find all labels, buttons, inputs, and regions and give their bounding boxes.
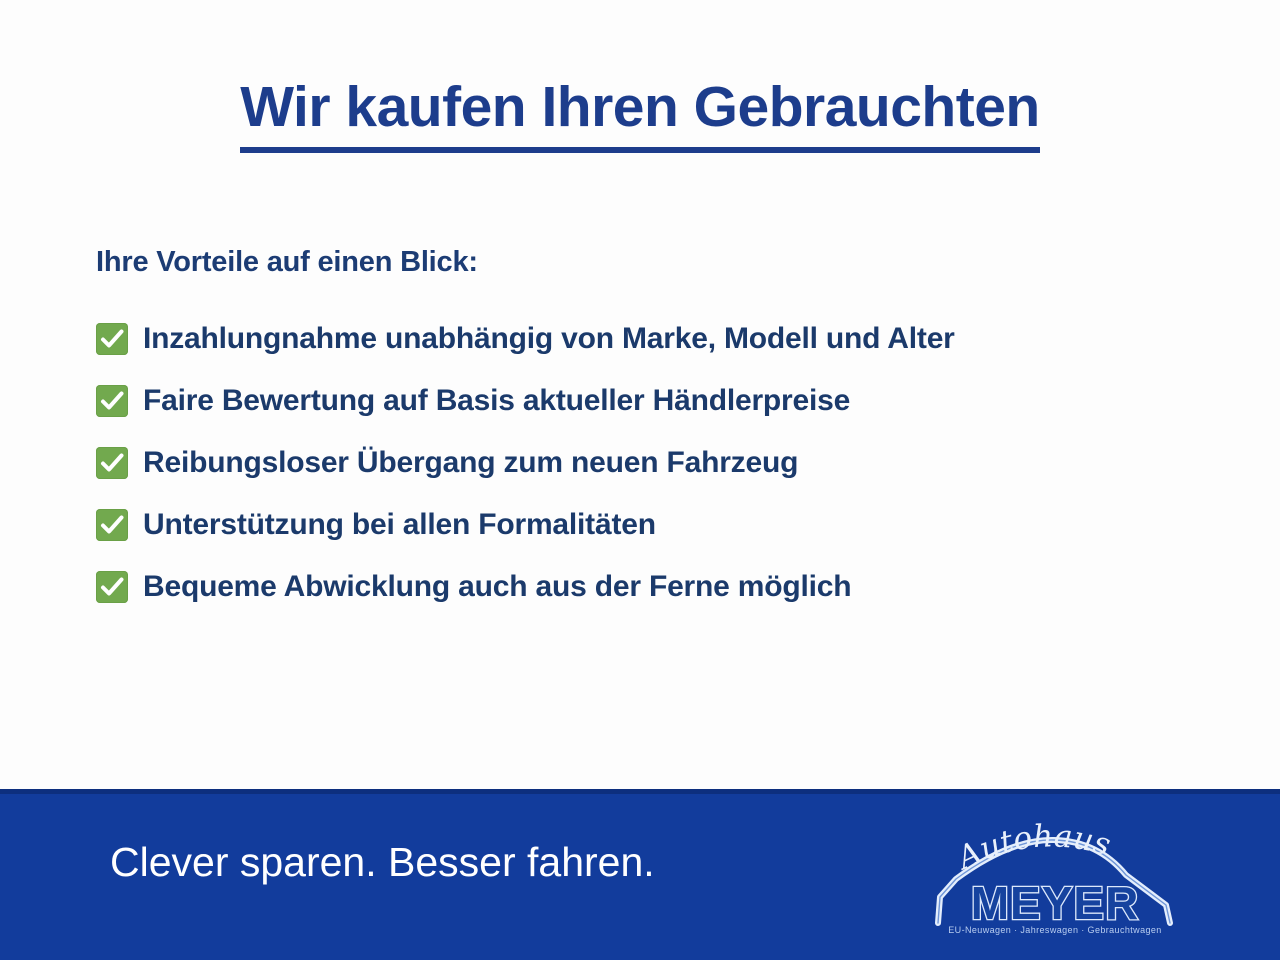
- check-square-icon: [96, 323, 128, 355]
- list-item-label: Inzahlungnahme unabhängig von Marke, Mod…: [143, 322, 955, 356]
- benefits-subtitle: Ihre Vorteile auf einen Blick:: [96, 246, 478, 279]
- logo-script-text: Autohaus: [949, 819, 1115, 878]
- list-item: Bequeme Abwicklung auch aus der Ferne mö…: [96, 556, 1226, 618]
- check-square-icon: [96, 571, 128, 603]
- page-title: Wir kaufen Ihren Gebrauchten: [240, 78, 1039, 153]
- benefits-list: Inzahlungnahme unabhängig von Marke, Mod…: [96, 308, 1226, 618]
- logo-word-text: MEYER: [971, 877, 1140, 929]
- flyer-page: Wir kaufen Ihren Gebrauchten Ihre Vortei…: [0, 0, 1280, 960]
- logo-tagline-text: EU-Neuwagen · Jahreswagen · Gebrauchtwag…: [948, 925, 1161, 935]
- list-item: Faire Bewertung auf Basis aktueller Händ…: [96, 370, 1226, 432]
- list-item-label: Unterstützung bei allen Formalitäten: [143, 508, 656, 542]
- list-item: Reibungsloser Übergang zum neuen Fahrzeu…: [96, 432, 1226, 494]
- footer-bar: Clever sparen. Besser fahren. Autohaus M…: [0, 789, 1280, 960]
- check-square-icon: [96, 447, 128, 479]
- check-square-icon: [96, 509, 128, 541]
- list-item-label: Reibungsloser Übergang zum neuen Fahrzeu…: [143, 446, 798, 480]
- list-item: Unterstützung bei allen Formalitäten: [96, 494, 1226, 556]
- page-title-container: Wir kaufen Ihren Gebrauchten: [0, 78, 1280, 153]
- autohaus-meyer-logo: Autohaus MEYER EU-Neuwagen · Jahreswagen…: [930, 819, 1180, 939]
- list-item-label: Faire Bewertung auf Basis aktueller Händ…: [143, 384, 850, 418]
- check-square-icon: [96, 385, 128, 417]
- footer-slogan: Clever sparen. Besser fahren.: [110, 839, 655, 886]
- list-item: Inzahlungnahme unabhängig von Marke, Mod…: [96, 308, 1226, 370]
- list-item-label: Bequeme Abwicklung auch aus der Ferne mö…: [143, 570, 851, 604]
